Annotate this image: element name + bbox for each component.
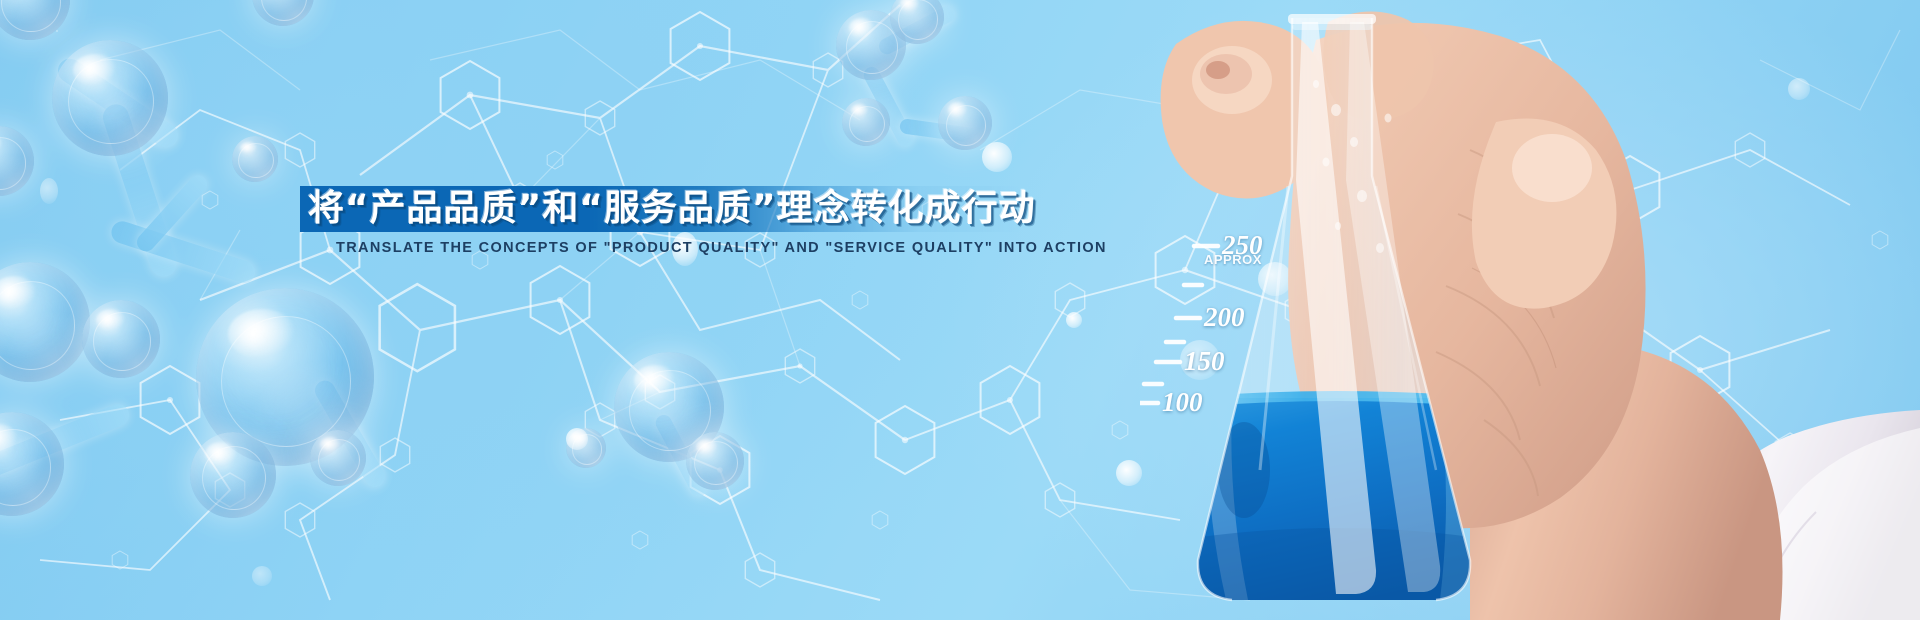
hero-banner: 250 APPROX 200 150 100 将“产品品质”和“服务品质”理念转… — [0, 0, 1920, 620]
bokeh-dot — [1788, 78, 1810, 100]
bokeh-dot — [566, 428, 588, 450]
page-title: 将“产品品质”和“服务品质”理念转化成行动 — [308, 179, 1036, 239]
hand-holding-flask: 250 APPROX 200 150 100 — [1140, 0, 1920, 620]
bokeh-dot — [40, 178, 58, 204]
bokeh-dot — [1066, 312, 1082, 328]
graduation-label-approx: APPROX — [1204, 252, 1262, 267]
bokeh-dot — [1552, 208, 1588, 244]
graduation-label: 150 — [1184, 346, 1225, 377]
graduation-label: 250 — [1222, 230, 1263, 261]
bokeh-dot — [252, 566, 272, 586]
bokeh-dot — [982, 142, 1012, 172]
hexagon-network-overlay — [0, 0, 1920, 620]
bokeh-dot — [1258, 262, 1292, 296]
bokeh-dot — [1180, 340, 1220, 380]
page-subtitle: TRANSLATE THE CONCEPTS OF "PRODUCT QUALI… — [336, 240, 1107, 256]
headline-block: 将“产品品质”和“服务品质”理念转化成行动 — [300, 186, 1020, 232]
graduation-label: 200 — [1204, 302, 1245, 333]
bokeh-dot — [1116, 460, 1142, 486]
flask-graduations — [1140, 246, 1218, 403]
graduation-label: 100 — [1162, 387, 1203, 418]
